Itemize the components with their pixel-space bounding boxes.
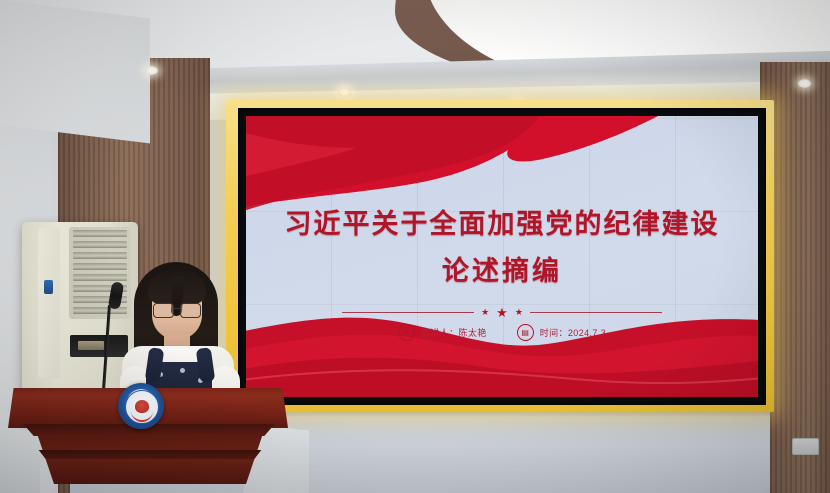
podium-body [30,434,270,484]
emblem-arc [131,409,153,422]
recessed-downlight [798,79,811,88]
divider-line-right [530,312,662,313]
institution-emblem [118,383,164,429]
ceiling-left-facet [0,0,150,143]
divider-line-left [342,312,474,313]
presentation-screen[interactable]: 习近平关于全面加强党的纪律建设 论述摘编 ★ ★ ★ ♟ 宣讲人：陈太艳 ▤ 时… [246,116,758,397]
emblem-inner-disc [125,390,159,424]
star-icon: ★ [481,308,489,317]
person-icon: ♟ [398,324,415,341]
date-label: 时间：2024.7.3 [540,326,606,339]
star-icon: ★ [515,308,523,317]
presenter-label: 宣讲人：陈太艳 [421,326,487,339]
slide-meta-row: ♟ 宣讲人：陈太艳 ▤ 时间：2024.7.3 [246,324,758,341]
recessed-downlight [145,66,158,75]
slide-divider: ★ ★ ★ [342,306,662,318]
ac-side-panel [38,228,60,378]
recessed-downlight [338,88,351,97]
date-meta: ▤ 时间：2024.7.3 [517,324,606,341]
slide-title-line1: 习近平关于全面加强党的纪律建设 [246,202,758,241]
slide-title-line2: 论述摘编 [246,249,758,288]
slide-content: 习近平关于全面加强党的纪律建设 论述摘编 ★ ★ ★ ♟ 宣讲人：陈太艳 ▤ 时… [246,116,758,397]
lecture-hall-photo: 习近平关于全面加强党的纪律建设 论述摘编 ★ ★ ★ ♟ 宣讲人：陈太艳 ▤ 时… [0,0,830,493]
presenter-meta: ♟ 宣讲人：陈太艳 [398,324,487,341]
calendar-icon: ▤ [517,324,534,341]
glasses-icon [153,303,201,316]
ac-display-icon [44,280,53,294]
star-icon: ★ [496,306,508,319]
wall-outlet-plate [792,438,819,455]
podium-shelf [34,450,266,459]
